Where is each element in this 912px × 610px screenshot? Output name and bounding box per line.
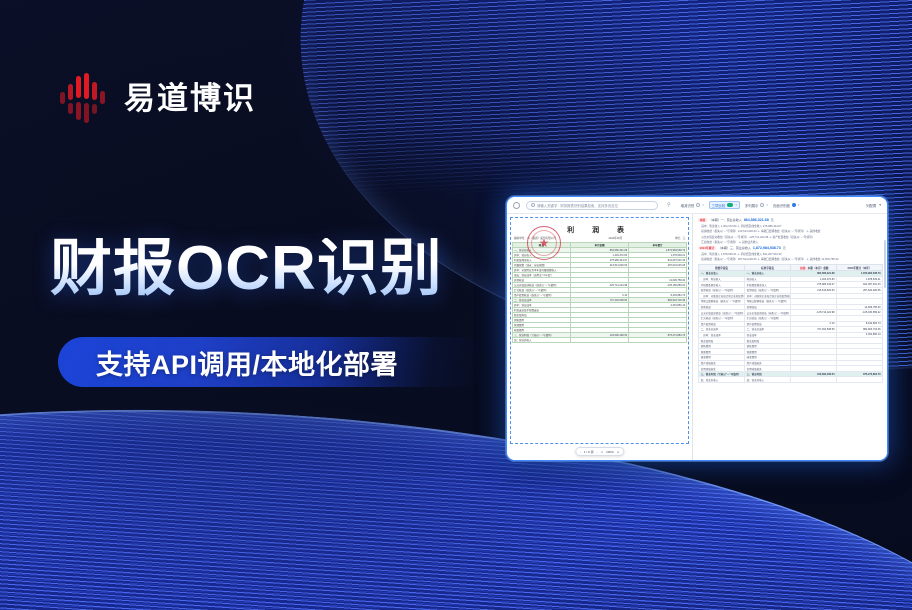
validation-note-text: （本期）一、营业总收入 <box>709 218 742 222</box>
search-input[interactable]: 请输入关键字 · 财务报表识别结果检索，支持多页定位 <box>526 201 658 210</box>
app-screenshot-panel: 请输入关键字 · 财务报表识别结果检索，支持多页定位 ⚲ 增减识别▾三项比较▾多… <box>506 196 888 461</box>
feature-pill: 支持API调用/本地化部署 <box>58 337 478 387</box>
validation-note-text: 汇兑收益（损失以“－”号填列） ＋ 其他业务收入 <box>701 240 758 244</box>
column-config-button[interactable]: 列配置 ▾ <box>866 203 881 208</box>
logo-bar <box>92 104 97 114</box>
app-body: 利 润 表 编制单位：××（集团）股份有限公司 2024年09月 单位：元 ★ … <box>507 214 887 460</box>
validation-note-text: 投资收益（损失以“－”号填列）213,514,626.63 ＋ 净敞口套期收益（… <box>701 229 820 233</box>
validation-note-text: 其中：利息收入 1,878,639.21 ＋ 手续费及佣金收入 841,067,… <box>701 252 781 256</box>
page-indicator: 1 / 8 页 <box>584 450 594 454</box>
search-input-value: 请输入关键字 · 财务报表识别结果检索，支持多页定位 <box>537 203 618 208</box>
minus-icon[interactable]: ⊖ <box>601 450 604 454</box>
document-preview-pane[interactable]: 利 润 表 编制单位：××（集团）股份有限公司 2024年09月 单位：元 ★ … <box>507 214 693 460</box>
status-dot-icon[interactable] <box>760 203 764 207</box>
table-cell: 公允价值变动收益（损失以“－”号填列） <box>699 310 745 316</box>
toolbar-chip-switch[interactable]: 三项比较▾ <box>709 201 740 209</box>
table-cell <box>791 377 837 383</box>
logo-bar <box>100 91 105 104</box>
company-seal-stamp-icon: ★ <box>527 226 561 260</box>
logo-bar <box>84 103 89 123</box>
logo-bar <box>76 102 81 120</box>
feature-pill-label: 支持API调用/本地化部署 <box>96 343 398 382</box>
validation-note: 投资收益（损失以“－”号填列）287,624,026.05 ＋ 净敞口套期收益（… <box>698 257 883 261</box>
logo-bar <box>84 73 89 99</box>
table-cell: 其中：对联营企业和合营企业的投资收益 <box>745 293 791 299</box>
validation-badge: 校验 <box>799 267 807 270</box>
document-zoom-toolbar[interactable]: ‹ 1 / 8 页 › ⊖ 100% ⊕ <box>575 447 624 456</box>
validation-note-value: 1,872,984,538.73 <box>753 246 781 250</box>
brand-logo: 易道博识 <box>58 72 256 124</box>
validation-note-value: 864,586,321.68 <box>744 218 769 222</box>
status-dot-icon[interactable] <box>792 203 796 207</box>
validation-note: 校验（本期）一、营业总收入864,586,321.68元 <box>698 218 883 222</box>
chevron-left-icon[interactable]: ‹ <box>580 450 581 454</box>
search-icon <box>531 203 535 207</box>
validation-note-text: （本期）三、营业总收入 <box>718 246 751 250</box>
table-cell: 公允价值变动收益（损失以“－”号填列） <box>745 310 791 316</box>
chevron-down-icon: ▾ <box>766 203 768 207</box>
page-title: 财报OCR识别 <box>50 238 443 300</box>
toolbar-chip-circle[interactable]: 增减识别▾ <box>681 203 704 208</box>
chevron-right-icon[interactable]: › <box>597 450 598 454</box>
toolbar-chip-group: 增减识别▾三项比较▾多列展示▾页面识别度▾ <box>681 201 800 209</box>
logo-bar <box>60 92 65 104</box>
validation-note-text: 公允价值变动收益（损失以“－”号填列）-125,714,224.98 ＋ 资产处… <box>701 235 814 239</box>
app-toolbar: 请输入关键字 · 财务报表识别结果检索，支持多页定位 ⚲ 增减识别▾三项比较▾多… <box>507 197 887 214</box>
validation-note: 2024年累计（本期）三、营业总收入1,872,984,538.73元 <box>698 246 883 250</box>
chevron-down-icon: ▾ <box>735 203 737 207</box>
table-cell: 净敞口套期收益（损失以“－”号填列） <box>745 299 791 305</box>
toolbar-chip-label: 多列展示 <box>745 203 759 208</box>
table-cell: 净敞口套期收益（损失以“－”号填列） <box>699 299 745 305</box>
status-dot-icon[interactable] <box>696 203 700 207</box>
table-cell: 三、营业利润（亏损以“－”号填列） <box>699 371 745 377</box>
chevron-down-icon: ▾ <box>879 203 881 207</box>
toolbar-chip-label: 三项比较 <box>712 203 726 208</box>
validation-note-unit: 元 <box>783 246 786 250</box>
validation-badge: 校验 <box>698 218 707 222</box>
back-arrow-icon[interactable] <box>513 202 520 209</box>
validation-note-list: 校验（本期）一、营业总收入864,586,321.68元其中：利息收入 1,40… <box>698 218 883 261</box>
table-row: 加：营业外收入加：营业外收入 <box>699 377 883 383</box>
table-cell: 加：营业外收入 <box>745 377 791 383</box>
toggle-switch-icon[interactable] <box>727 203 733 207</box>
table-cell: 加：营业外收入 <box>699 377 745 383</box>
column-config-label: 列配置 <box>866 203 876 208</box>
toolbar-chip-label: 页面识别度 <box>773 203 790 208</box>
waveform-circle-logo-icon <box>58 72 110 124</box>
validation-note: 投资收益（损失以“－”号填列）213,514,626.63 ＋ 净敞口套期收益（… <box>698 229 883 233</box>
logo-bar <box>68 84 73 100</box>
validation-note-text: 其中：利息收入 1,404,372.83 ＋ 手续费及佣金收入 275,986,… <box>701 224 781 228</box>
validation-note: 汇兑收益（损失以“－”号填列） ＋ 其他业务收入 <box>698 240 883 244</box>
validation-note: 其中：利息收入 1,404,372.83 ＋ 手续费及佣金收入 275,986,… <box>698 224 883 228</box>
table-cell: 其中：对联营企业和合营企业的投资收益 <box>699 293 745 299</box>
toolbar-chip-label: 增减识别 <box>681 203 695 208</box>
validation-note: 其中：利息收入 1,878,639.21 ＋ 手续费及佣金收入 841,067,… <box>698 252 883 256</box>
table-cell <box>837 377 883 383</box>
validation-note-unit: 元 <box>771 218 774 222</box>
extraction-result-pane[interactable]: 校验（本期）一、营业总收入864,586,321.68元其中：利息收入 1,40… <box>693 214 887 460</box>
toolbar-chip-dot[interactable]: 页面识别度▾ <box>773 203 799 208</box>
chevron-down-icon: ▾ <box>702 203 704 207</box>
toolbar-chip-circle[interactable]: 多列展示▾ <box>745 203 768 208</box>
logo-bar <box>92 82 97 100</box>
extraction-result-table: 原始字段名标准字段名校验 本期（本月）金额2024年累计（本年） 一、营业总收入… <box>698 264 883 383</box>
logo-bar <box>76 76 81 98</box>
validation-note-text: 投资收益（损失以“－”号填列）287,624,026.05 ＋ 净敞口套期收益（… <box>701 257 838 261</box>
scrollbar[interactable] <box>884 240 886 288</box>
brand-name: 易道博识 <box>124 83 256 114</box>
period-badge: 2024年累计 <box>698 246 716 250</box>
logo-bar <box>68 103 73 114</box>
chevron-down-icon: ▾ <box>798 203 800 207</box>
zoom-level: 100% <box>606 450 614 454</box>
plus-icon[interactable]: ⊕ <box>617 450 620 454</box>
magnifier-icon[interactable]: ⚲ <box>667 202 671 208</box>
validation-note: 公允价值变动收益（损失以“－”号填列）-125,714,224.98 ＋ 资产处… <box>698 235 883 239</box>
seal-inner-ring <box>531 230 557 256</box>
